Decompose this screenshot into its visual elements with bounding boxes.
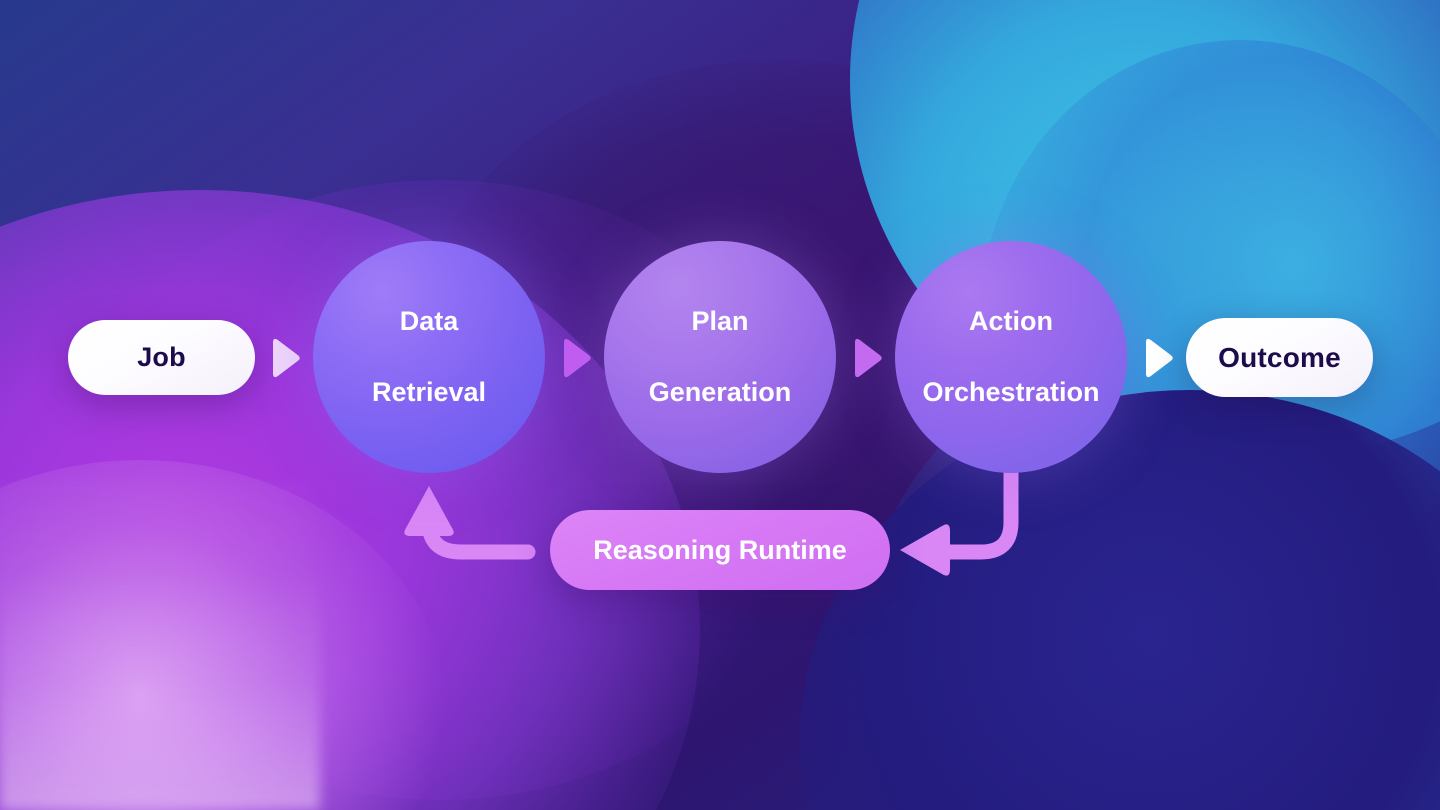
node-outcome[interactable]: Outcome — [1186, 318, 1373, 397]
node-line-1: Action — [910, 304, 1111, 339]
node-line-2: Generation — [637, 375, 804, 410]
node-plan-generation-label: PlanGeneration — [625, 304, 816, 409]
node-plan-generation[interactable]: PlanGeneration — [604, 241, 836, 473]
node-outcome-label: Outcome — [1218, 342, 1341, 374]
triangle-right-icon — [849, 336, 885, 380]
flow-row: Job DataRetrieval PlanGeneration ActionO… — [0, 0, 1440, 810]
node-job-label: Job — [137, 342, 186, 373]
triangle-right-icon — [558, 336, 594, 380]
node-data-retrieval[interactable]: DataRetrieval — [313, 241, 545, 473]
node-line-2: Orchestration — [910, 375, 1111, 410]
node-reasoning-runtime-label: Reasoning Runtime — [593, 535, 847, 566]
triangle-right-icon — [267, 336, 303, 380]
node-line-2: Retrieval — [360, 375, 498, 410]
triangle-right-icon — [1140, 336, 1176, 380]
node-action-orchestration[interactable]: ActionOrchestration — [895, 241, 1127, 473]
node-job[interactable]: Job — [68, 320, 255, 395]
diagram-canvas: Job DataRetrieval PlanGeneration ActionO… — [0, 0, 1440, 810]
node-line-1: Data — [360, 304, 498, 339]
node-reasoning-runtime[interactable]: Reasoning Runtime — [550, 510, 890, 590]
node-line-1: Plan — [637, 304, 804, 339]
node-data-retrieval-label: DataRetrieval — [348, 304, 510, 409]
node-action-orchestration-label: ActionOrchestration — [898, 304, 1123, 409]
